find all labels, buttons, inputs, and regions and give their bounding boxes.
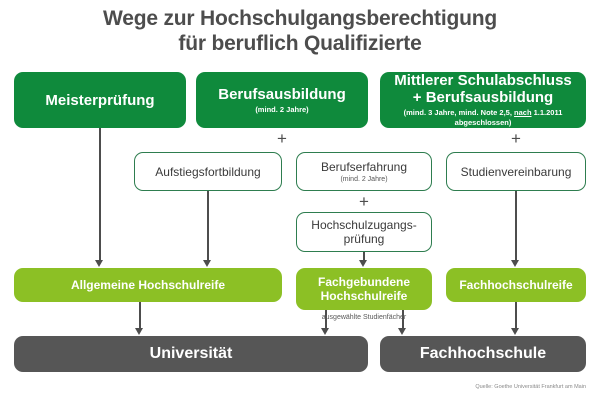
node-mittlerer-schulabschluss[interactable]: Mittlerer Schulabschluss + Berufsausbild… (380, 72, 586, 128)
arrowhead-allgemeine-universitaet (135, 328, 143, 335)
arrowhead-studienvereinbarung (511, 260, 519, 267)
plus-mittlerer: + (508, 130, 524, 147)
node-studienvereinbarung-label: Studienvereinbarung (461, 165, 572, 179)
node-berufserfahrung[interactable]: Berufserfahrung (mind. 2 Jahre) (296, 152, 432, 191)
node-aufstiegsfortbildung-label: Aufstiegsfortbildung (155, 165, 260, 179)
node-meisterpruefung[interactable]: Meisterprüfung (14, 72, 186, 128)
arrowhead-hochschulzugangspruefung (359, 260, 367, 267)
node-hzp-label-1: Hochschulzugangs- (311, 218, 416, 232)
node-allgemeine-hochschulreife[interactable]: Allgemeine Hochschulreife (14, 268, 282, 302)
page-title: Wege zur Hochschulgangsberechtigung für … (0, 6, 600, 56)
connector-aufstiegsfortbildung (207, 191, 209, 262)
node-berufsausbildung-label: Berufsausbildung (218, 86, 346, 103)
node-mittlerer-label-1: Mittlerer Schulabschluss (394, 72, 572, 89)
node-fachgebundene-label-2: Hochschulreife (321, 289, 408, 303)
node-hochschulzugangspruefung[interactable]: Hochschulzugangs- prüfung (296, 212, 432, 252)
connector-studienvereinbarung (515, 191, 517, 262)
arrowhead-meisterpruefung (95, 260, 103, 267)
title-line-2: für beruflich Qualifizierte (0, 31, 600, 56)
arrowhead-fachgebundene-universitaet (321, 328, 329, 335)
node-fachhochschule[interactable]: Fachhochschule (380, 336, 586, 372)
node-allgemeine-label-1: Allgemeine Hochschulreife (71, 278, 225, 292)
node-fachhochschule-label: Fachhochschule (420, 345, 546, 363)
node-fachgebundene-hochschulreife[interactable]: Fachgebundene Hochschulreife (296, 268, 432, 310)
node-studienvereinbarung[interactable]: Studienvereinbarung (446, 152, 586, 191)
node-meisterpruefung-label: Meisterprüfung (45, 92, 154, 109)
source-credit: Quelle: Goethe Universität Frankfurt am … (386, 383, 586, 391)
node-mittlerer-label-2: + Berufsausbildung (413, 89, 553, 106)
arrowhead-fachhochschulreife-fachhochschule (511, 328, 519, 335)
node-aufstiegsfortbildung[interactable]: Aufstiegsfortbildung (134, 152, 282, 191)
sub-emph: nach (514, 108, 532, 117)
node-berufsausbildung[interactable]: Berufsausbildung (mind. 2 Jahre) (196, 72, 368, 128)
node-fachhochschulreife-label: Fachhochschulreife (459, 278, 572, 292)
node-hzp-label-2: prüfung (344, 232, 385, 246)
node-berufsausbildung-sub: (mind. 2 Jahre) (255, 105, 308, 115)
sub-pre: (mind. 3 Jahre, mind. Note 2,5, (404, 108, 514, 117)
node-universitaet[interactable]: Universität (14, 336, 368, 372)
node-mittlerer-sub: (mind. 3 Jahre, mind. Note 2,5, nach 1.1… (383, 108, 583, 128)
annotation-selected-subjects: ausgewählte Studienfächer (296, 313, 432, 322)
arrowhead-aufstiegsfortbildung (203, 260, 211, 267)
title-line-1: Wege zur Hochschulgangsberechtigung (0, 6, 600, 31)
node-berufserfahrung-sub: (mind. 2 Jahre) (340, 175, 387, 184)
node-fachgebundene-label-1: Fachgebundene (318, 275, 410, 289)
connector-meisterpruefung (99, 128, 101, 262)
arrowhead-fachgebundene-fachhochschule (398, 328, 406, 335)
node-universitaet-label: Universität (150, 345, 233, 363)
diagram-canvas: Wege zur Hochschulgangsberechtigung für … (0, 0, 600, 400)
node-fachhochschulreife[interactable]: Fachhochschulreife (446, 268, 586, 302)
node-berufserfahrung-label: Berufserfahrung (321, 160, 407, 174)
plus-berufserfahrung: + (356, 193, 372, 210)
connector-allgemeine-universitaet (139, 302, 141, 330)
plus-berufsausbildung: + (274, 130, 290, 147)
connector-fachhochschulreife-fachhochschule (515, 302, 517, 330)
